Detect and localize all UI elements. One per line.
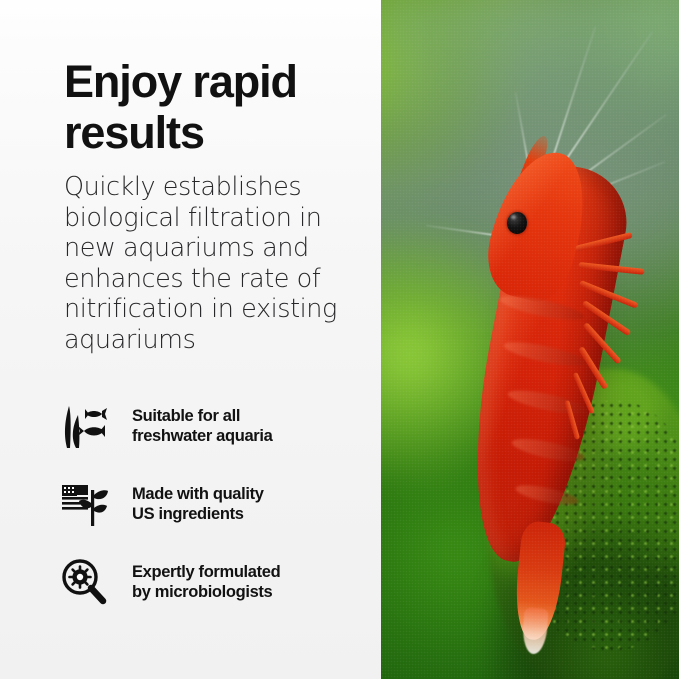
feature-list: Suitable for all freshwater aquaria xyxy=(60,398,360,610)
feature-item-label: Suitable for all freshwater aquaria xyxy=(112,406,272,447)
feature-item-label: Made with quality US ingredients xyxy=(112,484,264,525)
product-description: Quickly establishes biological filtratio… xyxy=(64,158,359,355)
cherry-shrimp xyxy=(399,150,629,660)
feature-item-microbiologists: Expertly formulated by microbiologists xyxy=(60,554,360,610)
magnifier-microbe-icon xyxy=(60,557,112,607)
left-content-panel: Enjoy rapid results Quickly establishes … xyxy=(0,0,381,679)
shrimp-tail-fan xyxy=(521,607,548,655)
feature-line-2: US ingredients xyxy=(132,504,264,525)
product-photo xyxy=(381,0,679,679)
feature-line-1: Expertly formulated xyxy=(132,562,280,583)
feature-item-label: Expertly formulated by microbiologists xyxy=(112,562,280,603)
feature-line-2: by microbiologists xyxy=(132,582,280,603)
shrimp-eye xyxy=(507,212,527,234)
product-feature-card: Enjoy rapid results Quickly establishes … xyxy=(0,0,679,679)
feature-item-freshwater: Suitable for all freshwater aquaria xyxy=(60,398,360,454)
feature-line-1: Made with quality xyxy=(132,484,264,505)
us-flag-plant-icon xyxy=(60,479,112,529)
feature-line-2: freshwater aquaria xyxy=(132,426,272,447)
aquarium-plants-fish-icon xyxy=(60,401,112,451)
page-title: Enjoy rapid results xyxy=(64,0,359,158)
feature-line-1: Suitable for all xyxy=(132,406,272,427)
feature-item-us-ingredients: Made with quality US ingredients xyxy=(60,476,360,532)
